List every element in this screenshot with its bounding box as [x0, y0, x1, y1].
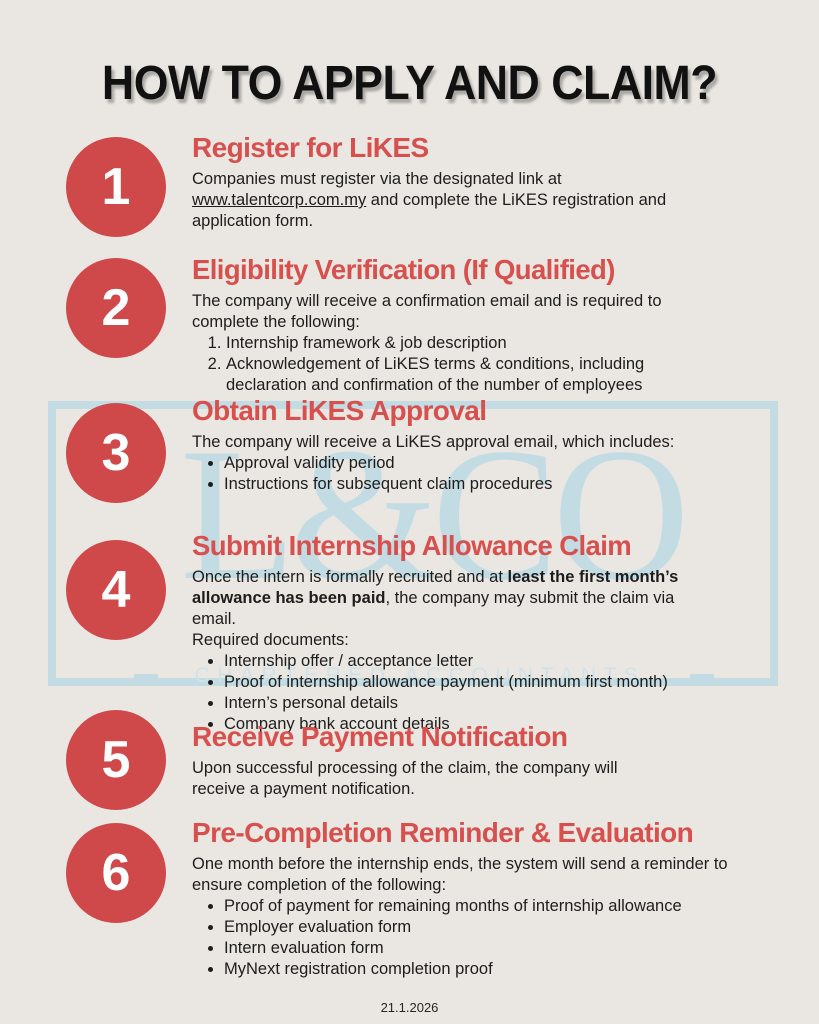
step-body-4: Submit Internship Allowance Claim Once t… [192, 531, 702, 735]
step-list-3: Approval validity period Instructions fo… [192, 453, 692, 495]
step-body-3: Obtain LiKES Approval The company will r… [192, 396, 692, 495]
list-item: Proof of payment for remaining months of… [224, 896, 732, 917]
step-description-4: Once the intern is formally recruited an… [192, 567, 702, 630]
step-body-1: Register for LiKES Companies must regist… [192, 133, 672, 232]
list-item: Instructions for subsequent claim proced… [224, 474, 692, 495]
step-number-badge-5: 5 [66, 710, 166, 810]
step-desc-part-a-4: Once the intern is formally recruited an… [192, 568, 507, 586]
step-title-1: Register for LiKES [192, 133, 672, 163]
step-number-badge-3: 3 [66, 403, 166, 503]
talentcorp-link[interactable]: www.talentcorp.com.my [192, 191, 366, 209]
step-list-6: Proof of payment for remaining months of… [192, 896, 732, 980]
step-body-6: Pre-Completion Reminder & Evaluation One… [192, 818, 732, 980]
step-subhead-4: Required documents: [192, 630, 702, 651]
step-title-5: Receive Payment Notification [192, 722, 672, 752]
list-item: Employer evaluation form [224, 917, 732, 938]
footer-date: 21.1.2026 [0, 1000, 819, 1015]
list-item: Acknowledgement of LiKES terms & conditi… [226, 354, 712, 396]
step-number-badge-2: 2 [66, 258, 166, 358]
step-body-2: Eligibility Verification (If Qualified) … [192, 255, 712, 396]
step-title-4: Submit Internship Allowance Claim [192, 531, 702, 561]
step-description-3: The company will receive a LiKES approva… [192, 432, 692, 453]
list-item: MyNext registration completion proof [224, 959, 732, 980]
list-item: Proof of internship allowance payment (m… [224, 672, 702, 693]
page-title: HOW TO APPLY AND CLAIM? [29, 58, 791, 110]
steps-container: 1 Register for LiKES Companies must regi… [0, 0, 819, 1024]
step-body-5: Receive Payment Notification Upon succes… [192, 722, 672, 800]
step-title-6: Pre-Completion Reminder & Evaluation [192, 818, 732, 848]
step-number-badge-4: 4 [66, 540, 166, 640]
step-desc-part-a-1: Companies must register via the designat… [192, 170, 562, 188]
infographic-poster: L&CO CHARTERED ACCOUNTANTS HOW TO APPLY … [0, 0, 819, 1024]
step-number-badge-6: 6 [66, 823, 166, 923]
list-item: Internship framework & job description [226, 333, 712, 354]
step-number-badge-1: 1 [66, 137, 166, 237]
list-item: Internship offer / acceptance letter [224, 651, 702, 672]
step-title-2: Eligibility Verification (If Qualified) [192, 255, 712, 285]
list-item: Intern’s personal details [224, 693, 702, 714]
step-list-2: Internship framework & job description A… [192, 333, 712, 396]
step-title-3: Obtain LiKES Approval [192, 396, 692, 426]
step-description-1: Companies must register via the designat… [192, 169, 672, 232]
step-description-2: The company will receive a confirmation … [192, 291, 712, 333]
list-item: Approval validity period [224, 453, 692, 474]
step-description-6: One month before the internship ends, th… [192, 854, 732, 896]
step-description-5: Upon successful processing of the claim,… [192, 758, 672, 800]
list-item: Intern evaluation form [224, 938, 732, 959]
